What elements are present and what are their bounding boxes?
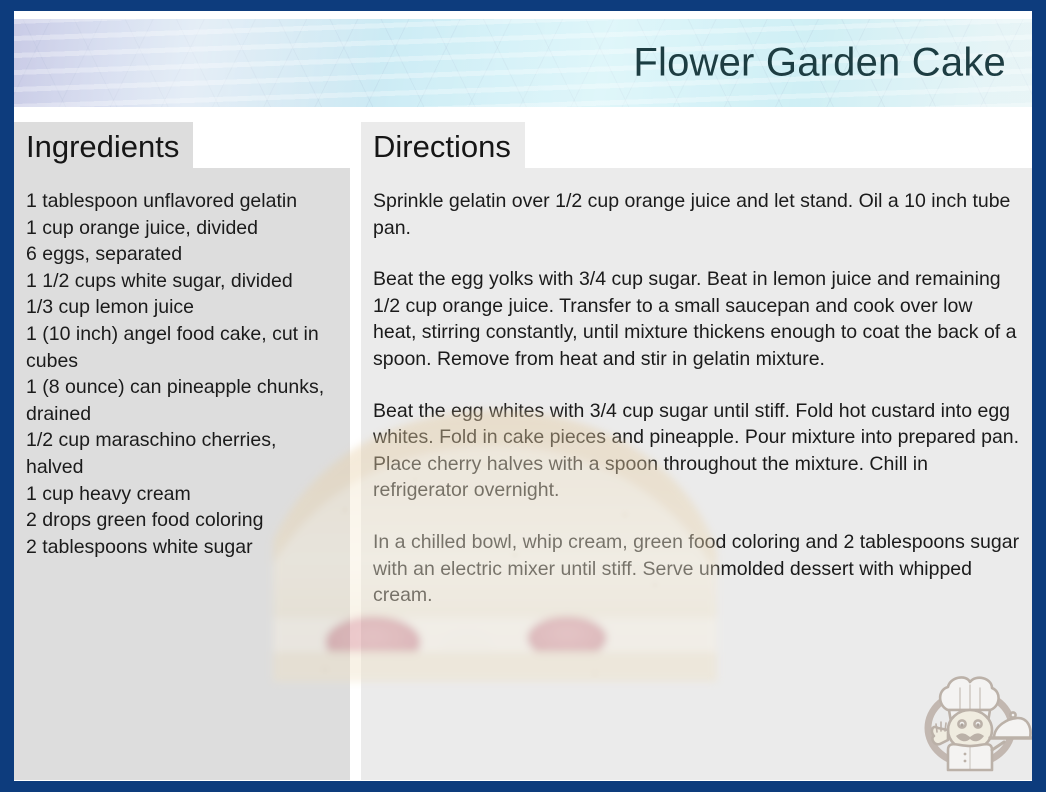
ingredient-item: 6 eggs, separated [26,241,338,268]
recipe-card: Flower Garden Cake Ingredients 1 tablesp… [0,0,1046,792]
ingredient-item: 2 drops green food coloring [26,507,338,534]
directions-heading: Directions [361,122,525,168]
ingredient-item: 1/2 cup maraschino cherries, halved [26,427,338,480]
directions-text: Sprinkle gelatin over 1/2 cup orange jui… [361,168,1032,780]
ingredient-item: 1 (10 inch) angel food cake, cut in cube… [26,321,338,374]
header-banner: Flower Garden Cake [14,19,1032,107]
page-title: Flower Garden Cake [633,41,1006,86]
ingredient-item: 1 (8 ounce) can pineapple chunks, draine… [26,374,338,427]
direction-paragraph: Beat the egg yolks with 3/4 cup sugar. B… [373,266,1020,372]
direction-paragraph: Sprinkle gelatin over 1/2 cup orange jui… [373,188,1020,241]
ingredient-item: 2 tablespoons white sugar [26,534,338,561]
ingredient-item: 1 tablespoon unflavored gelatin [26,188,338,215]
ingredient-item: 1/3 cup lemon juice [26,294,338,321]
ingredients-list: 1 tablespoon unflavored gelatin1 cup ora… [14,168,350,780]
direction-paragraph: Beat the egg whites with 3/4 cup sugar u… [373,398,1020,504]
ingredient-item: 1 1/2 cups white sugar, divided [26,268,338,295]
ingredient-item: 1 cup orange juice, divided [26,215,338,242]
direction-paragraph: In a chilled bowl, whip cream, green foo… [373,529,1020,609]
ingredients-panel: Ingredients 1 tablespoon unflavored gela… [14,122,350,168]
content-columns: Ingredients 1 tablespoon unflavored gela… [14,122,1032,780]
directions-panel: Directions Sprinkle gelatin over 1/2 cup… [361,122,1032,168]
ingredient-item: 1 cup heavy cream [26,481,338,508]
ingredients-heading: Ingredients [14,122,193,168]
